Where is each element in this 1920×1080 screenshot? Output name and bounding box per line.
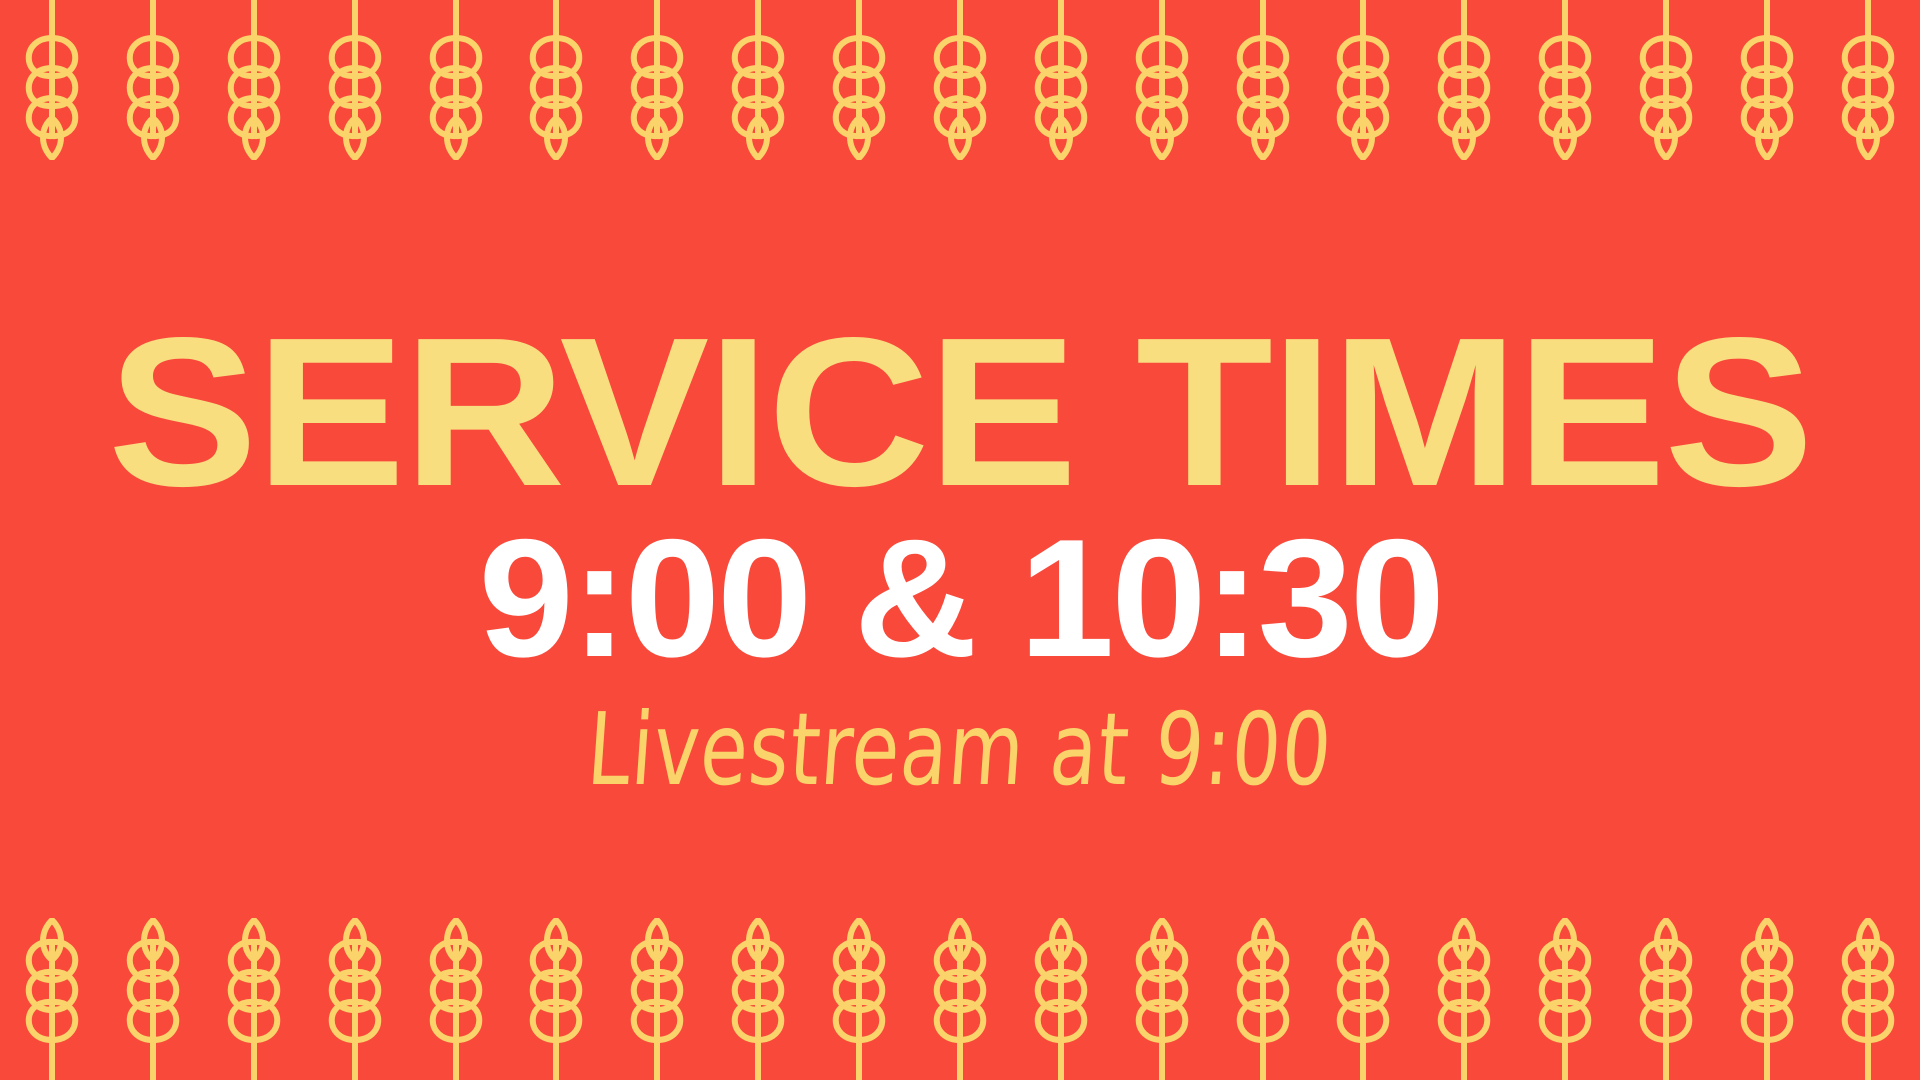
poster-content: SERVICE TIMES 9:00 & 10:30 Livestream at… <box>0 0 1920 1080</box>
livestream-note: Livestream at 9:00 <box>584 701 1335 801</box>
page-title: SERVICE TIMES <box>108 288 1812 509</box>
service-times-poster: SERVICE TIMES 9:00 & 10:30 Livestream at… <box>0 0 1920 1080</box>
service-times-value: 9:00 & 10:30 <box>478 519 1442 679</box>
